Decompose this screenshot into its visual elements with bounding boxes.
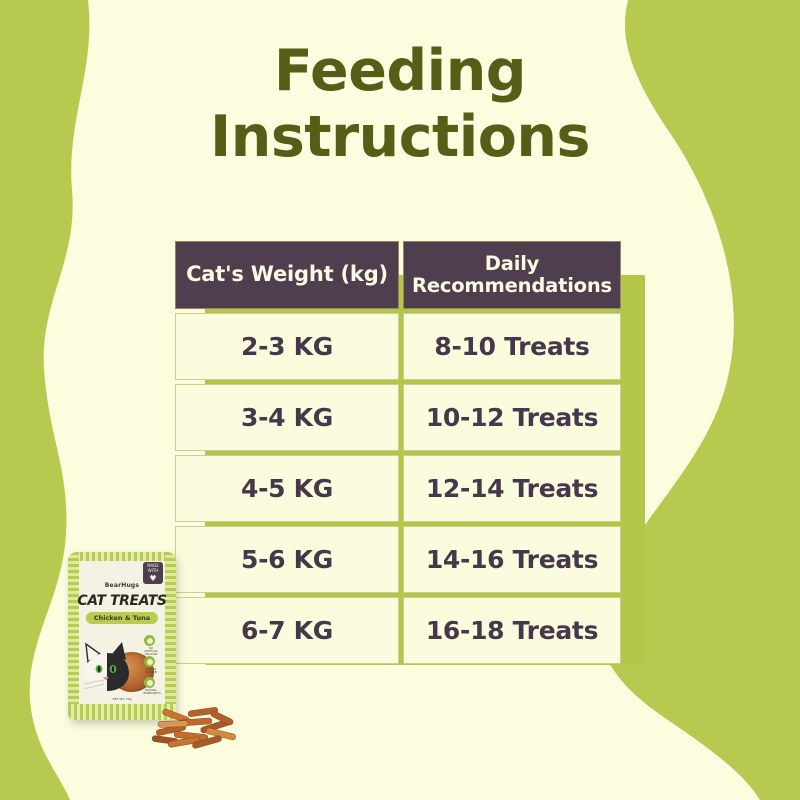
table-row: 6-7 KG 16-18 Treats xyxy=(175,597,621,664)
page-title-line-1: Feeding xyxy=(0,38,800,104)
page-title-line-2: Instructions xyxy=(0,104,800,170)
cell-daily: 14-16 Treats xyxy=(403,526,621,593)
package-product-name: CAT TREATS xyxy=(68,593,176,609)
table-header-row: Cat's Weight (kg) Daily Recommendations xyxy=(175,241,621,309)
feeding-table: Cat's Weight (kg) Daily Recommendations … xyxy=(175,241,621,668)
cat-illustration xyxy=(82,636,138,698)
treats-pile-icon xyxy=(148,693,252,755)
paw-icon: NO ARTIFICIAL COLOURS xyxy=(144,635,155,646)
package-corner-badge: MADE WITH ♥ xyxy=(143,562,163,584)
cell-weight: 3-4 KG xyxy=(175,384,399,451)
table-row: 2-3 KG 8-10 Treats xyxy=(175,313,621,380)
leaf-icon: NATURAL INGREDIENTS xyxy=(144,677,155,688)
cell-daily: 16-18 Treats xyxy=(403,597,621,664)
bone-icon: HIGH IN PROTEIN xyxy=(144,656,155,667)
cell-weight: 4-5 KG xyxy=(175,455,399,522)
cell-weight: 5-6 KG xyxy=(175,526,399,593)
header-daily-line-1: Daily xyxy=(412,253,612,275)
header-daily-line-2: Recommendations xyxy=(412,275,612,297)
poster-canvas: Feeding Instructions Cat's Weight (kg) D… xyxy=(0,0,800,800)
header-cell-weight: Cat's Weight (kg) xyxy=(175,241,399,309)
package-flavor-badge: Chicken & Tuna xyxy=(86,612,158,624)
package-badge-text: MADE WITH xyxy=(147,563,159,573)
package-brand: BearHugs xyxy=(68,582,176,589)
package-top-strip xyxy=(68,552,176,561)
cell-weight: 6-7 KG xyxy=(175,597,399,664)
table-row: 3-4 KG 10-12 Treats xyxy=(175,384,621,451)
cell-weight: 2-3 KG xyxy=(175,313,399,380)
feature-label-1: HIGH IN PROTEIN xyxy=(143,668,159,674)
cell-daily: 10-12 Treats xyxy=(403,384,621,451)
page-title: Feeding Instructions xyxy=(0,38,800,170)
cell-daily: 8-10 Treats xyxy=(403,313,621,380)
cell-daily: 12-14 Treats xyxy=(403,455,621,522)
package-feature-icons: NO ARTIFICIAL COLOURS HIGH IN PROTEIN NA… xyxy=(144,635,164,698)
table-row: 5-6 KG 14-16 Treats xyxy=(175,526,621,593)
header-cell-daily: Daily Recommendations xyxy=(403,241,621,309)
package-left-edge xyxy=(68,552,79,720)
table-row: 4-5 KG 12-14 Treats xyxy=(175,455,621,522)
